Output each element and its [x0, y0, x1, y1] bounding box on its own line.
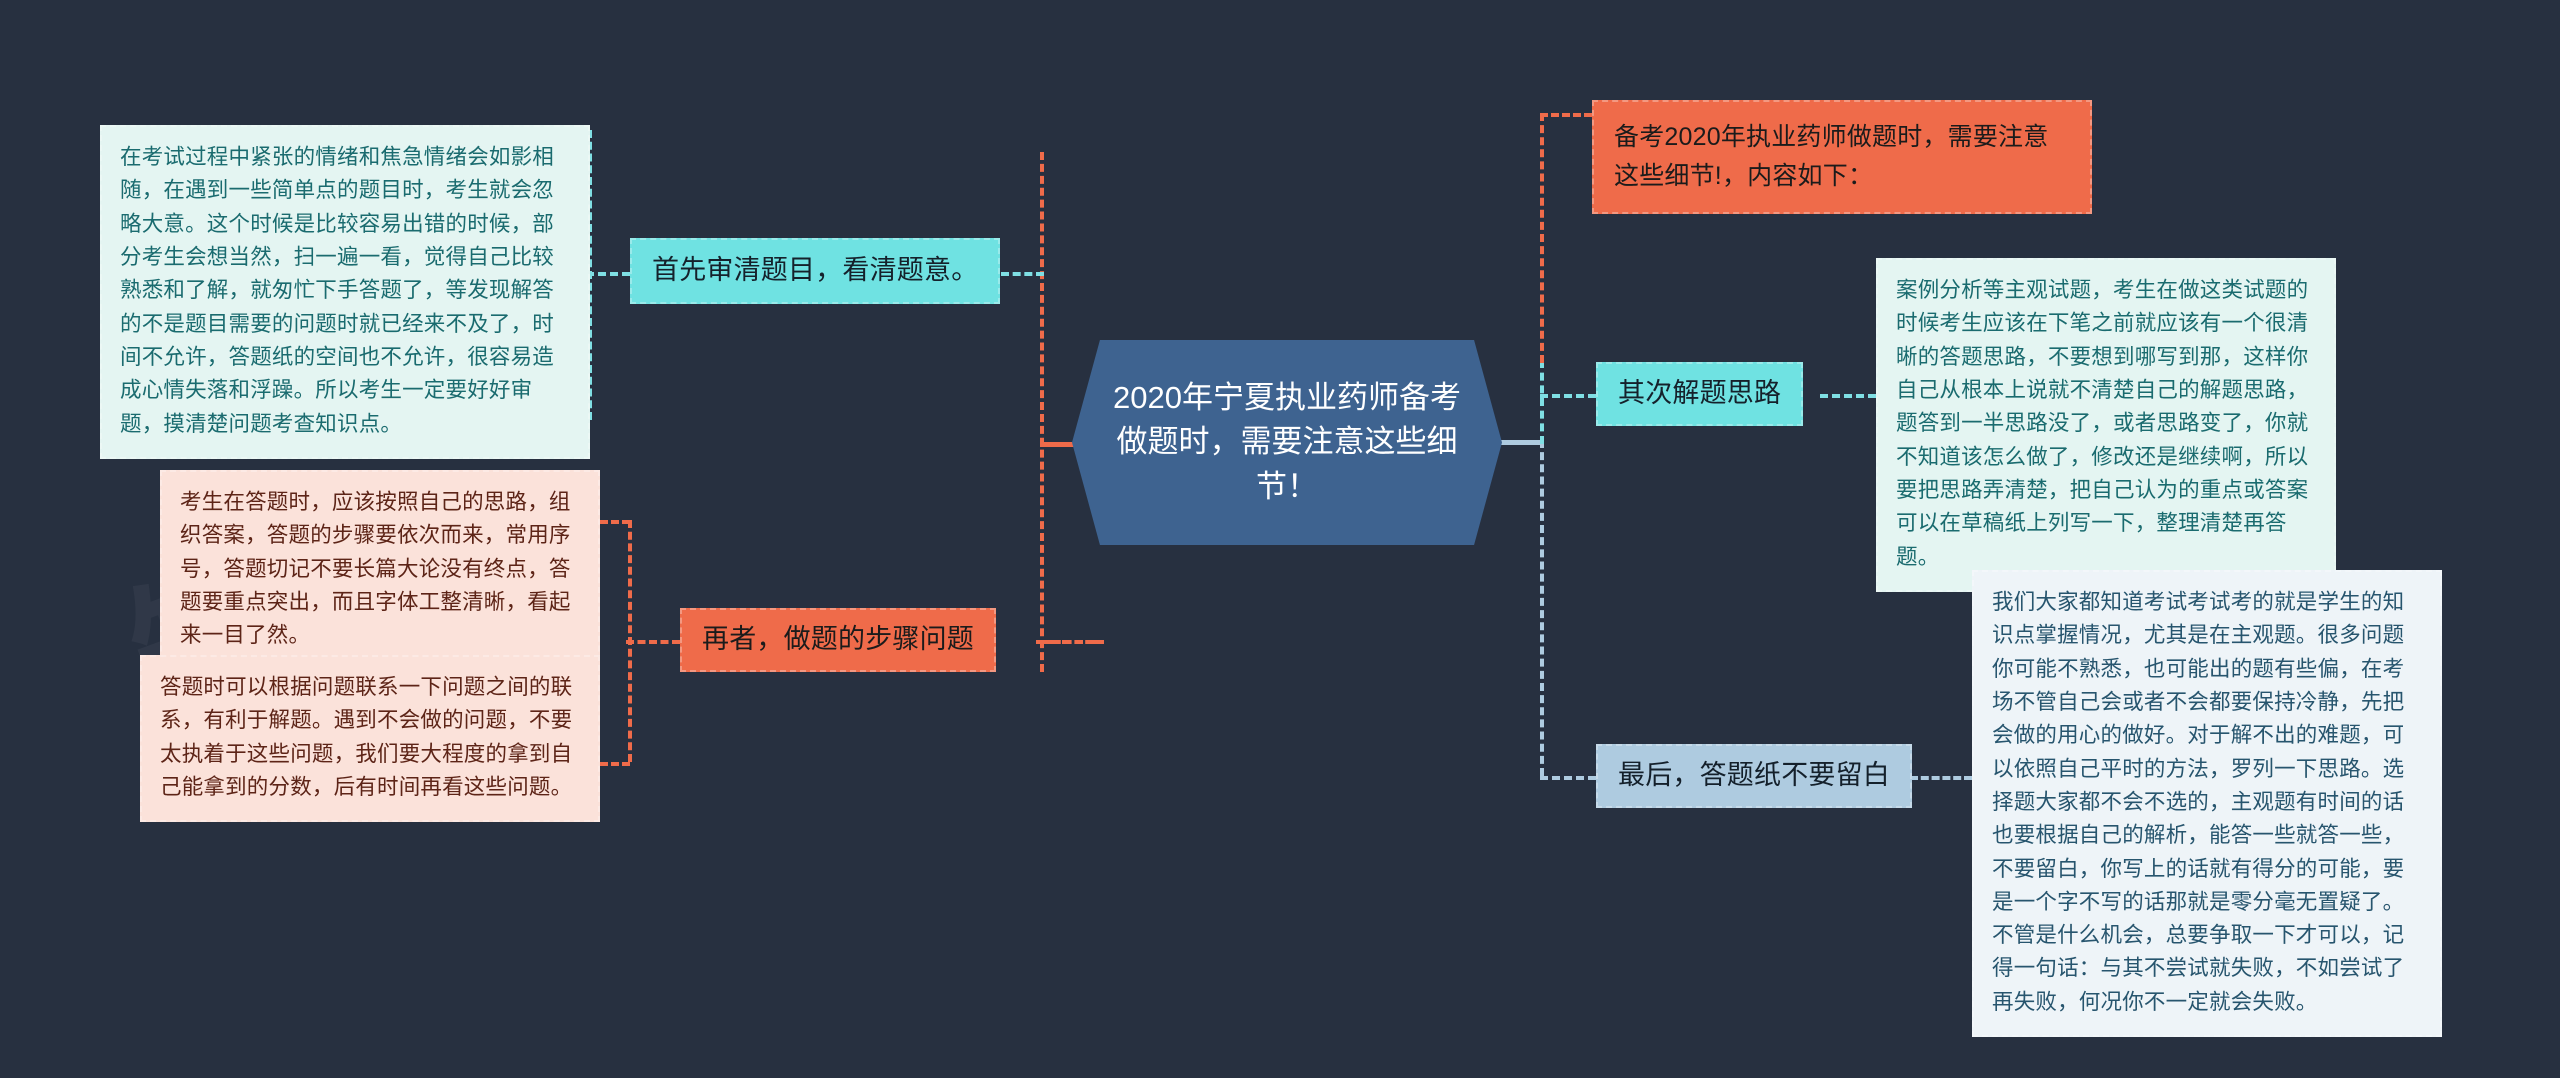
branch-label-first[interactable]: 首先审清题目，看清题意。	[630, 238, 1000, 304]
last-detail-paragraph: 我们大家都知道考试考试考的就是学生的知识点掌握情况，尤其是在主观题。很多问题你可…	[1972, 570, 2442, 1037]
connector-third-detail-a	[600, 520, 630, 524]
branch-label-second[interactable]: 其次解题思路	[1596, 362, 1803, 426]
connector-third-label-right	[1036, 640, 1096, 644]
center-node[interactable]: 2020年宁夏执业药师备考做题时，需要注意这些细节！	[1072, 340, 1502, 545]
connector-right-spine-cyan	[1540, 360, 1544, 444]
third-detail-paragraph-b: 答题时可以根据问题联系一下问题之间的联系，有利于解题。遇到不会做的问题，不要太执…	[140, 655, 600, 822]
connector-right-spine-orange	[1540, 113, 1544, 363]
connector-third-detail-spine	[628, 520, 632, 762]
connector-right-spine-lower	[1540, 440, 1544, 776]
connector-third-label-left	[626, 640, 680, 644]
connector-left-spine	[1040, 152, 1044, 672]
connector-last-label-to-detail	[1910, 776, 1972, 780]
connector-third-detail-b	[600, 762, 630, 766]
mindmap-canvas: 知 知 在考试过程中紧张的情绪和焦急情绪会如影相随，在遇到一些简单点的题目时，考…	[0, 0, 2560, 1078]
connector-first-label-to-detail	[586, 272, 630, 276]
third-detail-paragraph-a: 考生在答题时，应该按照自己的思路，组织答案，答题的步骤要依次而来，常用序号，答题…	[160, 470, 600, 671]
branch-label-last[interactable]: 最后，答题纸不要留白	[1596, 744, 1912, 808]
connector-to-second-label	[1540, 394, 1596, 398]
first-detail-paragraph: 在考试过程中紧张的情绪和焦急情绪会如影相随，在遇到一些简单点的题目时，考生就会忽…	[100, 125, 590, 459]
branch-label-third[interactable]: 再者，做题的步骤问题	[680, 608, 996, 672]
connector-second-label-to-detail	[1820, 394, 1876, 398]
second-detail-paragraph: 案例分析等主观试题，考生在做这类试题的时候考生应该在下笔之前就应该有一个很清晰的…	[1876, 258, 2336, 592]
intro-node[interactable]: 备考2020年执业药师做题时，需要注意这些细节!，内容如下：	[1592, 100, 2092, 214]
connector-to-last-label	[1540, 776, 1596, 780]
connector-to-intro	[1540, 113, 1592, 117]
